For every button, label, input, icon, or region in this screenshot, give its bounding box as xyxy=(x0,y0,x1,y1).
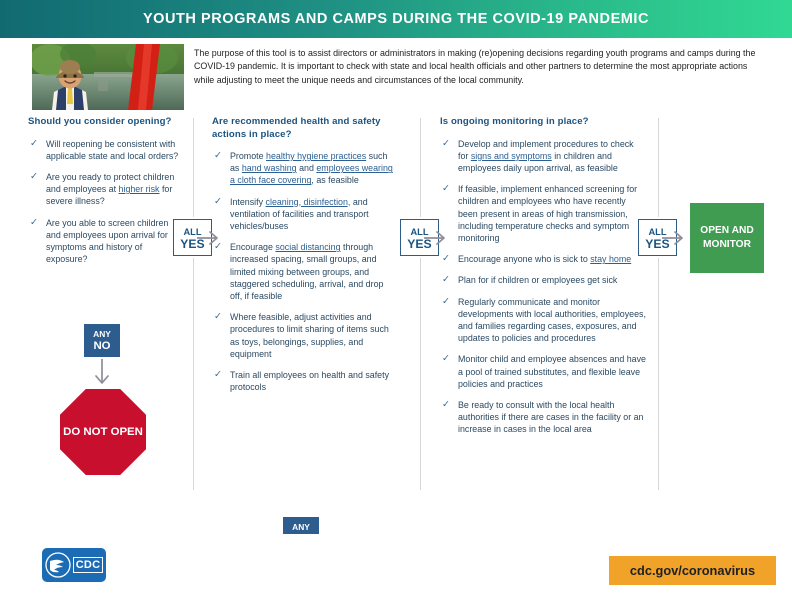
check-icon: ✓ xyxy=(30,171,38,183)
check-icon: ✓ xyxy=(442,296,450,308)
any-no-badge-1: ANY NO xyxy=(84,324,120,357)
check-icon: ✓ xyxy=(442,353,450,365)
arrow-right-icon-3 xyxy=(662,229,688,247)
inline-link[interactable]: social distancing xyxy=(275,242,340,252)
infographic-page: YOUTH PROGRAMS AND CAMPS DURING THE COVI… xyxy=(0,0,792,613)
inline-link[interactable]: stay home xyxy=(590,254,631,264)
check-icon: ✓ xyxy=(442,399,450,411)
checklist-item: ✓Encourage social distancing through inc… xyxy=(212,241,394,302)
column-divider-2 xyxy=(420,118,421,490)
item-text: , as feasible xyxy=(311,175,358,185)
item-text: Intensify xyxy=(230,197,266,207)
child-kayak-photo xyxy=(32,44,184,110)
intro-paragraph: The purpose of this tool is to assist di… xyxy=(194,47,770,87)
checklist-item: ✓Promote healthy hygiene practices such … xyxy=(212,150,394,187)
check-icon: ✓ xyxy=(214,196,222,208)
cdc-coronavirus-url-badge[interactable]: cdc.gov/coronavirus xyxy=(609,556,776,585)
checklist-item: ✓Are you ready to protect children and e… xyxy=(28,171,180,208)
check-icon: ✓ xyxy=(214,369,222,381)
item-text: Plan for if children or employees get si… xyxy=(458,275,617,285)
checklist-item: ✓Be ready to consult with the local heal… xyxy=(440,399,646,436)
check-icon: ✓ xyxy=(442,274,450,286)
column-divider-3 xyxy=(658,118,659,490)
checklist-item: ✓If feasible, implement enhanced screeni… xyxy=(440,183,646,244)
check-icon: ✓ xyxy=(442,253,450,265)
inline-link[interactable]: cleaning, disinfection, xyxy=(266,197,351,207)
item-text: If feasible, implement enhanced screenin… xyxy=(458,184,637,243)
cdc-coronavirus-url-label: cdc.gov/coronavirus xyxy=(630,563,755,578)
checklist-item: ✓Intensify cleaning, disinfection, and v… xyxy=(212,196,394,233)
checklist-item: ✓Will reopening be consistent with appli… xyxy=(28,138,180,162)
item-text: Encourage xyxy=(230,242,275,252)
outcome-do-not-open-label: DO NOT OPEN xyxy=(63,425,143,439)
cdc-wordmark: CDC xyxy=(73,557,103,573)
any-no-line1: ANY xyxy=(292,522,310,534)
checklist-item: ✓Are you able to screen children and emp… xyxy=(28,217,180,266)
item-text: Regularly communicate and monitor develo… xyxy=(458,297,646,344)
page-title: YOUTH PROGRAMS AND CAMPS DURING THE COVI… xyxy=(143,11,649,27)
checklist-item: ✓Plan for if children or employees get s… xyxy=(440,274,646,286)
column-1-heading: Should you consider opening? xyxy=(28,116,180,129)
column-3-heading: Is ongoing monitoring in place? xyxy=(440,116,646,129)
column-consider-opening: Should you consider opening? ✓Will reope… xyxy=(28,116,180,274)
item-text: Will reopening be consistent with applic… xyxy=(46,139,178,161)
item-text: Are you able to screen children and empl… xyxy=(46,218,168,265)
item-text: Encourage anyone who is sick to xyxy=(458,254,590,264)
checklist-consider-opening: ✓Will reopening be consistent with appli… xyxy=(28,138,180,266)
any-no-line1: ANY xyxy=(93,329,111,341)
check-icon: ✓ xyxy=(214,150,222,162)
arrow-right-icon-1 xyxy=(197,229,223,247)
check-icon: ✓ xyxy=(214,311,222,323)
checklist-item: ✓Monitor child and employee absences and… xyxy=(440,353,646,390)
inline-link[interactable]: signs and symptoms xyxy=(471,151,552,161)
column-divider-1 xyxy=(193,118,194,490)
item-text: Monitor child and employee absences and … xyxy=(458,354,646,388)
column-health-safety-actions: Are recommended health and safety action… xyxy=(212,116,394,402)
check-icon: ✓ xyxy=(30,138,38,150)
hhs-bird-icon xyxy=(45,552,71,578)
arrow-down-icon-1 xyxy=(93,359,111,389)
check-icon: ✓ xyxy=(30,217,38,229)
column-ongoing-monitoring: Is ongoing monitoring in place? ✓Develop… xyxy=(440,116,646,445)
check-icon: ✓ xyxy=(442,138,450,150)
checklist-item: ✓Regularly communicate and monitor devel… xyxy=(440,296,646,345)
outcome-open-and-monitor: OPEN AND MONITOR xyxy=(690,203,764,273)
checklist-ongoing-monitoring: ✓Develop and implement procedures to che… xyxy=(440,138,646,436)
item-text: and xyxy=(297,163,317,173)
checklist-item: ✓Where feasible, adjust activities and p… xyxy=(212,311,394,360)
inline-link[interactable]: healthy hygiene practices xyxy=(266,151,366,161)
item-text: Where feasible, adjust activities and pr… xyxy=(230,312,389,359)
outcome-open-and-monitor-label: OPEN AND MONITOR xyxy=(690,224,764,252)
header-banner: YOUTH PROGRAMS AND CAMPS DURING THE COVI… xyxy=(0,0,792,38)
column-2-heading: Are recommended health and safety action… xyxy=(212,116,394,141)
outcome-do-not-open: DO NOT OPEN xyxy=(60,389,146,475)
item-text: Be ready to consult with the local healt… xyxy=(458,400,643,434)
check-icon: ✓ xyxy=(442,183,450,195)
checklist-item: ✓Train all employees on health and safet… xyxy=(212,369,394,393)
inline-link[interactable]: hand washing xyxy=(242,163,297,173)
item-text: Promote xyxy=(230,151,266,161)
item-text: Train all employees on health and safety… xyxy=(230,370,389,392)
checklist-item: ✓Develop and implement procedures to che… xyxy=(440,138,646,175)
checklist-health-safety-actions: ✓Promote healthy hygiene practices such … xyxy=(212,150,394,393)
arrow-right-icon-2 xyxy=(424,229,450,247)
cdc-hhs-logo: CDC xyxy=(42,548,106,582)
inline-link[interactable]: higher risk xyxy=(119,184,160,194)
checklist-item: ✓Encourage anyone who is sick to stay ho… xyxy=(440,253,646,265)
any-no-line2: NO xyxy=(93,341,110,353)
intro-section: The purpose of this tool is to assist di… xyxy=(0,38,792,116)
decision-flow: Should you consider opening? ✓Will reope… xyxy=(0,116,792,534)
